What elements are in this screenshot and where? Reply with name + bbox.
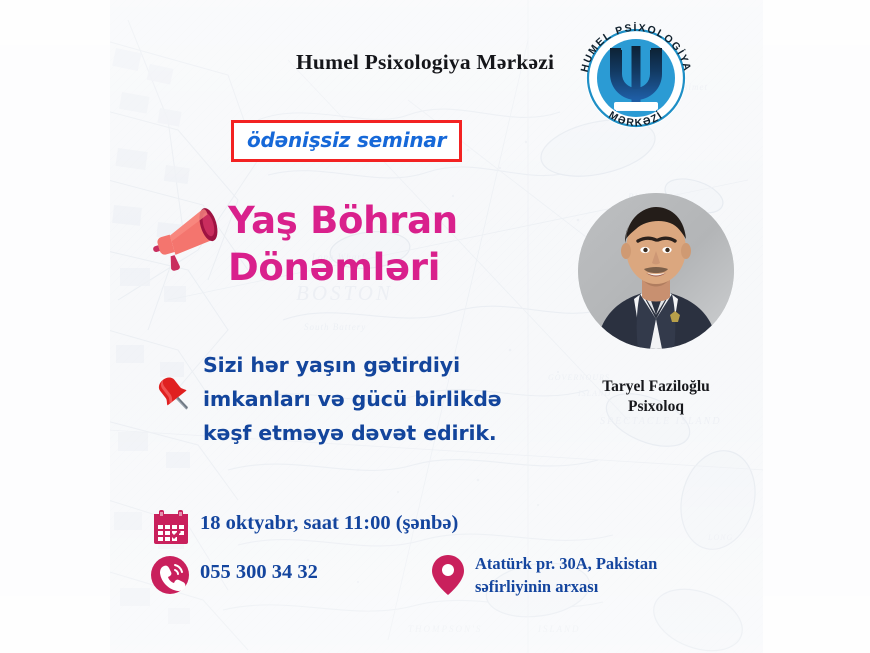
speaker-role: Psixoloq: [566, 397, 746, 417]
seminar-poster: BOSTON Long Wharf South Battery SPECTACL…: [0, 0, 870, 653]
speaker-name: Taryel Faziloğlu: [566, 377, 746, 397]
speaker-info: Taryel Faziloğlu Psixoloq: [566, 377, 746, 417]
seminar-description-line1: Sizi hər yaşın gətirdiyi: [203, 348, 563, 382]
organization-title: Humel Psixologiya Mərkəzi: [296, 50, 554, 75]
event-address-line2: səfirliyinin arxası: [475, 575, 735, 598]
speaker-portrait: [578, 193, 734, 349]
seminar-description-line2: imkanları və gücü birlikdə: [203, 382, 563, 416]
free-seminar-badge: ödənişsiz seminar: [231, 120, 462, 162]
seminar-description-line3: kəşf etməyə dəvət edirik.: [203, 416, 563, 450]
phone-number: 055 300 34 32: [200, 561, 318, 584]
event-address: Atatürk pr. 30A, Pakistan səfirliyinin a…: [475, 552, 735, 598]
pushpin-icon: [152, 372, 196, 416]
map-pin-icon: [429, 553, 467, 597]
calendar-icon: [150, 506, 192, 548]
seminar-description: Sizi hər yaşın gətirdiyi imkanları və gü…: [203, 348, 563, 450]
humel-logo: HUMEL PSİXOLOGİYA MƏRKƏZİ: [570, 18, 702, 130]
phone-icon: [149, 554, 191, 596]
seminar-title: Yaş Böhran Dönəmləri: [228, 197, 578, 291]
event-address-line1: Atatürk pr. 30A, Pakistan: [475, 552, 735, 575]
seminar-title-line1: Yaş Böhran: [228, 197, 578, 244]
megaphone-icon: [152, 206, 230, 274]
event-date: 18 oktyabr, saat 11:00 (şənbə): [200, 512, 458, 535]
free-seminar-label: ödənişsiz seminar: [247, 128, 446, 152]
seminar-title-line2: Dönəmləri: [228, 244, 578, 291]
